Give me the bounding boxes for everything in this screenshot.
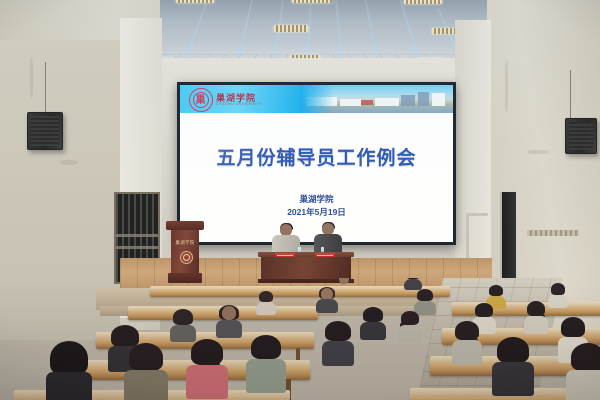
audience-member — [492, 338, 534, 396]
audience-member — [452, 322, 482, 364]
person-torso — [492, 362, 534, 396]
audience-member — [360, 308, 386, 340]
audience-member — [398, 312, 422, 342]
person-hair — [561, 317, 585, 337]
audience-member — [524, 302, 548, 334]
slide-header-band: 巢 巢湖学院 CHAOHU UNIVERSITY — [180, 85, 453, 113]
audience-member — [336, 278, 352, 290]
person-hair — [417, 289, 433, 301]
person-hair — [489, 285, 503, 296]
lectern-top — [166, 221, 204, 230]
lecture-hall-photo: 巢 巢湖学院 CHAOHU UNIVERSITY 五月份辅导员工作例会 巢湖学院… — [0, 0, 600, 400]
campus-building — [340, 99, 361, 106]
audience-member — [186, 340, 228, 398]
projection-screen: 巢 巢湖学院 CHAOHU UNIVERSITY 五月份辅导员工作例会 巢湖学院… — [177, 82, 456, 245]
audience-member — [414, 290, 436, 314]
audience-member — [46, 342, 92, 400]
audience-member — [322, 322, 354, 364]
person-hair — [259, 291, 273, 302]
person-hair — [475, 303, 493, 317]
person-head — [339, 278, 349, 284]
audience-member — [256, 292, 276, 314]
person-torso — [524, 316, 548, 334]
wall-notice-strip — [527, 230, 579, 236]
speaker-grille — [31, 116, 59, 146]
campus-building — [361, 100, 373, 106]
left-wall-speaker — [27, 112, 63, 150]
ceiling-light-panel — [292, 0, 332, 3]
person-torso — [360, 322, 386, 340]
person-hair — [191, 339, 223, 365]
person-torso — [548, 295, 568, 308]
audience-member — [548, 284, 568, 306]
person-torso — [124, 370, 168, 400]
slide-surface: 巢 巢湖学院 CHAOHU UNIVERSITY 五月份辅导员工作例会 巢湖学院… — [180, 85, 453, 242]
person-torso — [452, 340, 482, 365]
audience-member — [216, 306, 242, 338]
wall-conduit — [466, 215, 469, 263]
desk-row — [150, 290, 450, 297]
campus-building — [432, 93, 446, 106]
person-torso — [246, 359, 286, 393]
wall-blemish — [60, 160, 78, 165]
person-hair — [325, 321, 351, 341]
person-torso — [566, 370, 600, 400]
audience-area — [0, 278, 600, 400]
wall-conduit — [466, 213, 488, 216]
audience-member — [124, 344, 168, 400]
logo-glyph: 巢 — [195, 95, 206, 106]
campus-building — [375, 98, 399, 106]
speaker-grille — [569, 122, 593, 150]
audience-member — [170, 310, 196, 340]
lectern-emblem-icon — [180, 251, 193, 264]
person-torso — [404, 279, 422, 290]
person-torso — [316, 299, 338, 313]
table-skirt — [261, 257, 351, 279]
wall-blemish — [30, 58, 33, 98]
audience-member — [566, 344, 600, 400]
right-wall-speaker — [565, 118, 597, 154]
person-hair — [251, 335, 281, 359]
speaker-cable — [570, 70, 571, 118]
person-hair — [129, 343, 163, 371]
person-torso — [322, 341, 354, 366]
lectern-label: 巢湖学院 — [171, 240, 199, 246]
slide-subtitle-date: 2021年5月19日 — [180, 206, 453, 218]
person-torso — [398, 325, 422, 342]
person-torso — [186, 365, 228, 399]
window-crossbar — [116, 246, 158, 249]
slide-subtitle-org: 巢湖学院 — [180, 193, 453, 205]
university-logo-icon: 巢 — [189, 88, 213, 112]
wall-blemish — [527, 150, 549, 154]
campus-building — [418, 92, 429, 107]
person-hair — [50, 341, 88, 375]
ceiling-light-panel — [404, 0, 442, 4]
wall-blemish — [505, 60, 508, 112]
speaker-cable — [45, 62, 46, 112]
person-hair — [497, 337, 529, 363]
audience-member — [404, 278, 422, 290]
campus-photo-banner — [300, 85, 453, 113]
campus-building — [401, 95, 415, 107]
person-torso — [256, 302, 276, 315]
person-hair — [571, 343, 600, 371]
person-torso — [46, 372, 92, 400]
person-hair — [551, 283, 565, 295]
banner-fade — [300, 85, 334, 113]
audience-member — [246, 336, 286, 392]
ceiling-light-panel — [176, 0, 214, 3]
person-hair — [173, 309, 193, 325]
slide-title: 五月份辅导员工作例会 — [180, 143, 453, 170]
ceiling-light-panel — [274, 25, 308, 32]
person-head — [222, 306, 236, 320]
right-doorway — [500, 192, 516, 290]
logo-name-en: CHAOHU UNIVERSITY — [216, 102, 262, 106]
window-crossbar — [116, 234, 158, 237]
lectern-body: 巢湖学院 — [171, 230, 199, 274]
person-torso — [216, 320, 242, 338]
lectern: 巢湖学院 — [168, 221, 202, 283]
audience-member — [316, 288, 338, 312]
person-hair — [363, 307, 383, 322]
